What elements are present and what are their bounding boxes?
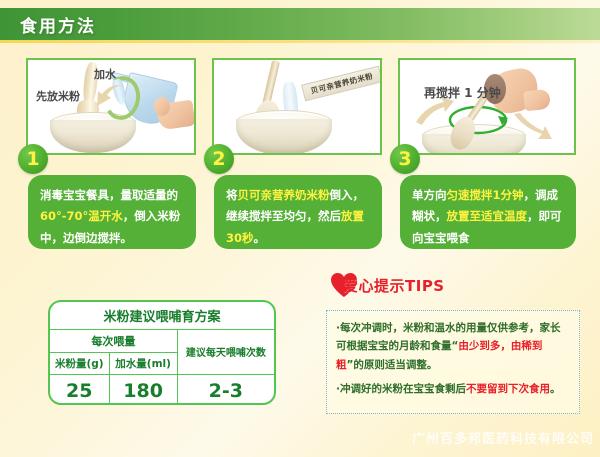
- plain-text: ”的原则适当调整。: [347, 359, 438, 371]
- plain-text: 。: [254, 231, 266, 245]
- bowl: [50, 120, 136, 153]
- fingers: [523, 89, 551, 112]
- step-3-illustration: 再搅拌 1 分钟: [398, 58, 576, 155]
- feeding-plan-table: 米粉建议喂哺育方案 每次喂量 建议每天喂哺次数 米粉量(g) 加水量(ml) 2…: [48, 300, 276, 405]
- highlighted-text: 放置至适宜温度: [447, 209, 528, 223]
- table-value-frequency: 2-3: [177, 374, 274, 405]
- header-underline: [0, 40, 600, 43]
- table-col-header-water: 加水量(ml): [109, 352, 177, 374]
- plain-text: ·冲调好的米粉在宝宝食剩后: [336, 383, 466, 395]
- tips-item-2: ·冲调好的米粉在宝宝食剩后不要留到下次食用。: [336, 380, 570, 398]
- table-value-water: 180: [109, 374, 177, 405]
- plain-text: 消毒宝宝餐具，量取适量的: [40, 188, 178, 202]
- plain-text: 将: [226, 188, 238, 202]
- bowl: [236, 119, 332, 155]
- step-badge-3: 3: [390, 144, 420, 174]
- pour-arrow-icon: [92, 82, 126, 116]
- step-1-text: 消毒宝宝餐具，量取适量的60°-70°温开水，倒入米粉中，边倒边搅拌。: [28, 175, 196, 249]
- infographic-page: 食用方法 先放米粉 加水: [0, 0, 600, 457]
- section-header-bar: 食用方法: [0, 8, 600, 40]
- spoon-handle: [262, 60, 280, 107]
- step-3-text: 单方向匀速搅拌1分钟，调成糊状，放置至适宜温度，即可向宝宝喂食: [400, 175, 576, 249]
- plain-text: 单方向: [412, 188, 447, 202]
- stir-arrow-right-icon: [512, 112, 554, 144]
- company-watermark: 广州百多邦医药科技有限公司: [412, 428, 594, 447]
- thumb: [154, 97, 170, 116]
- product-packet-label: 贝可亲营养奶米粉: [301, 66, 382, 102]
- table-title: 米粉建议喂哺育方案: [50, 302, 274, 329]
- step-1-label-powder: 先放米粉: [36, 88, 80, 104]
- step-2-text: 将贝可亲营养奶米粉倒入，继续搅拌至均匀，然后放置30秒。: [214, 175, 382, 249]
- bowl: [422, 134, 526, 155]
- highlighted-text: 不要留到下次食用: [466, 383, 550, 395]
- table-group-header: 每次喂量: [50, 329, 177, 352]
- table-col-header-powder: 米粉量(g): [50, 352, 109, 374]
- tips-header: 爱心提示TIPS: [330, 272, 445, 298]
- step-3-label-stir: 再搅拌 1 分钟: [424, 84, 501, 101]
- tips-title: 爱心提示TIPS: [343, 275, 445, 296]
- step-1-label-water: 加水: [94, 66, 116, 82]
- table-freq-header: 建议每天喂哺次数: [177, 329, 274, 374]
- tips-item-1: ·每次冲调时，米粉和温水的用量仅供参考，家长可根据宝宝的月龄和食量“由少到多，由…: [336, 319, 570, 374]
- highlighted-text: 60°-70°温开水: [40, 209, 123, 223]
- highlighted-text: 匀速搅拌1分钟: [447, 188, 524, 202]
- tips-content-box: ·每次冲调时，米粉和温水的用量仅供参考，家长可根据宝宝的月龄和食量“由少到多，由…: [326, 310, 580, 414]
- step-1-illustration: 先放米粉 加水: [26, 58, 196, 155]
- step-2-illustration: 贝可亲营养奶米粉: [212, 58, 382, 155]
- step-badge-2: 2: [204, 144, 234, 174]
- step-badge-1: 1: [18, 144, 48, 174]
- plain-text: 。: [550, 383, 561, 395]
- table-value-powder: 25: [50, 374, 109, 405]
- page-title: 食用方法: [20, 12, 96, 37]
- highlighted-text: 贝可亲营养奶米粉: [238, 188, 330, 202]
